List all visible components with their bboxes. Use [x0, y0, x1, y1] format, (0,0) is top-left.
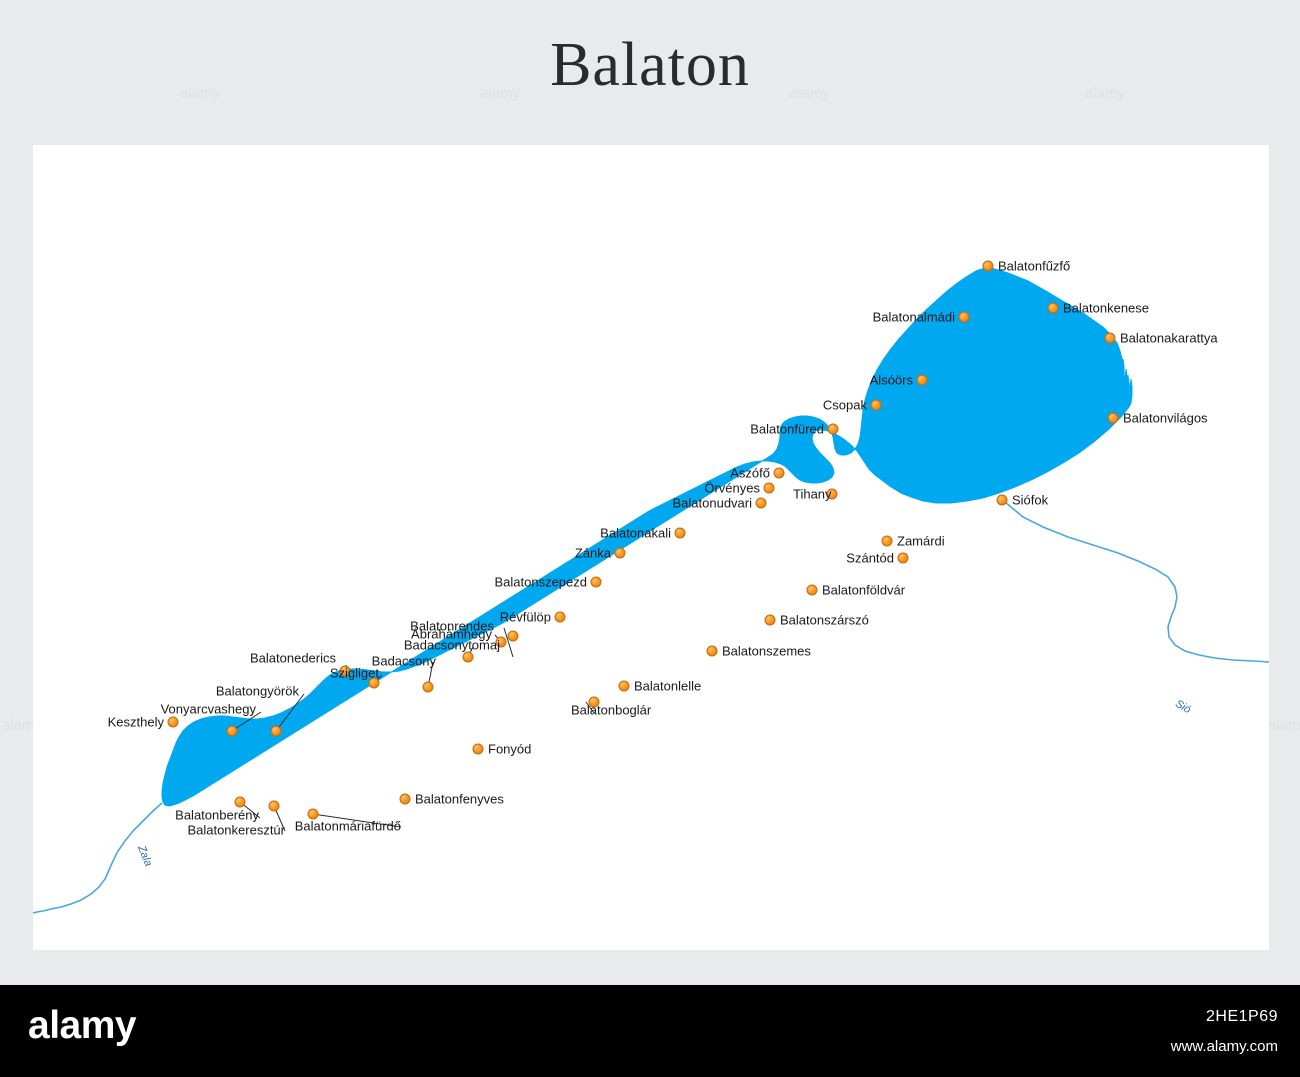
map-marker[interactable] [227, 726, 238, 737]
page-root: alamy alamy alamy alamy alamy alamy Bala… [0, 0, 1300, 1077]
map-marker[interactable] [271, 726, 282, 737]
map-marker[interactable] [983, 261, 994, 272]
map-place-label: Tihany [793, 487, 832, 502]
sio-river [1005, 502, 1269, 662]
map-place-label: Balatonederics [250, 651, 336, 666]
map-marker[interactable] [1048, 303, 1059, 314]
map-place-label: Balatonmáriafürdő [295, 819, 401, 834]
map-place-label: Örvényes [704, 481, 760, 496]
map-place-label: Keszthely [108, 715, 164, 730]
map-marker[interactable] [898, 553, 909, 564]
map-place-label: Balatongyörök [216, 684, 299, 699]
map-place-label: Balatonszemes [722, 644, 811, 659]
map-place-label: Balatonfűzfő [998, 259, 1070, 274]
map-place-label: Vonyarcvashegy [161, 702, 256, 717]
map-place-label: Balatonföldvár [822, 583, 905, 598]
map-place-label: Siófok [1012, 493, 1048, 508]
map-place-label: Aszófő [730, 466, 770, 481]
map-marker[interactable] [168, 717, 179, 728]
footer-bar [0, 985, 1300, 1077]
alamy-url: www.alamy.com [1171, 1038, 1278, 1055]
map-place-label: Révfülöp [500, 610, 551, 625]
map-place-label: Balatonszepezd [494, 575, 587, 590]
map-place-label: Balatonkeresztúr [187, 823, 285, 838]
map-marker[interactable] [423, 682, 434, 693]
map-place-label: Balatonberény [175, 808, 259, 823]
map-marker[interactable] [463, 652, 474, 663]
map-marker[interactable] [400, 794, 411, 805]
map-marker[interactable] [473, 744, 484, 755]
map-place-label: Balatonboglár [571, 703, 651, 718]
map-canvas: BalatonfűzfőBalatonkeneseBalatonakaratty… [33, 145, 1269, 950]
image-id: 2HE1P69 [1206, 1008, 1278, 1026]
watermark-text: alamy [1268, 717, 1300, 734]
map-place-label: Fonyód [488, 742, 531, 757]
map-marker[interactable] [707, 646, 718, 657]
map-marker[interactable] [765, 615, 776, 626]
map-place-label: Balatonalmádi [873, 310, 955, 325]
map-place-label: Zamárdi [897, 534, 945, 549]
map-place-label: Badacsony [372, 654, 436, 669]
map-marker[interactable] [591, 577, 602, 588]
map-place-label: Badacsonytomaj [404, 638, 500, 653]
map-marker[interactable] [675, 528, 686, 539]
page-title: Balaton [0, 30, 1300, 101]
map-marker[interactable] [756, 498, 767, 509]
map-place-label: Balatonszárszó [780, 613, 869, 628]
map-marker[interactable] [882, 536, 893, 547]
map-marker[interactable] [1108, 413, 1119, 424]
map-place-label: Balatonakali [600, 526, 671, 541]
map-place-label: Balatonudvari [673, 496, 753, 511]
map-marker[interactable] [917, 375, 928, 386]
map-marker[interactable] [871, 400, 882, 411]
map-marker[interactable] [555, 612, 566, 623]
alamy-logo: alamy [28, 1004, 136, 1048]
map-place-label: Zánka [575, 546, 611, 561]
map-place-label: Csopak [823, 398, 867, 413]
map-place-label: Alsóörs [870, 373, 913, 388]
map-place-label: Szántód [846, 551, 894, 566]
map-marker[interactable] [828, 424, 839, 435]
map-place-label: Balatonfüred [750, 422, 824, 437]
map-marker[interactable] [508, 631, 519, 642]
map-marker[interactable] [269, 801, 280, 812]
map-place-label: Szigliget [330, 666, 379, 681]
map-marker[interactable] [619, 681, 630, 692]
map-place-label: Balatonakarattya [1120, 331, 1218, 346]
map-marker[interactable] [959, 312, 970, 323]
map-marker[interactable] [1105, 333, 1116, 344]
map-marker[interactable] [997, 495, 1008, 506]
map-marker[interactable] [764, 483, 775, 494]
map-marker[interactable] [235, 797, 246, 808]
map-place-label: Balatonfenyves [415, 792, 504, 807]
map-marker[interactable] [774, 468, 785, 479]
map-marker[interactable] [615, 548, 626, 559]
map-place-label: Balatonvilágos [1123, 411, 1208, 426]
map-place-label: Balatonkenese [1063, 301, 1149, 316]
map-place-label: Balatonlelle [634, 679, 701, 694]
map-marker[interactable] [807, 585, 818, 596]
